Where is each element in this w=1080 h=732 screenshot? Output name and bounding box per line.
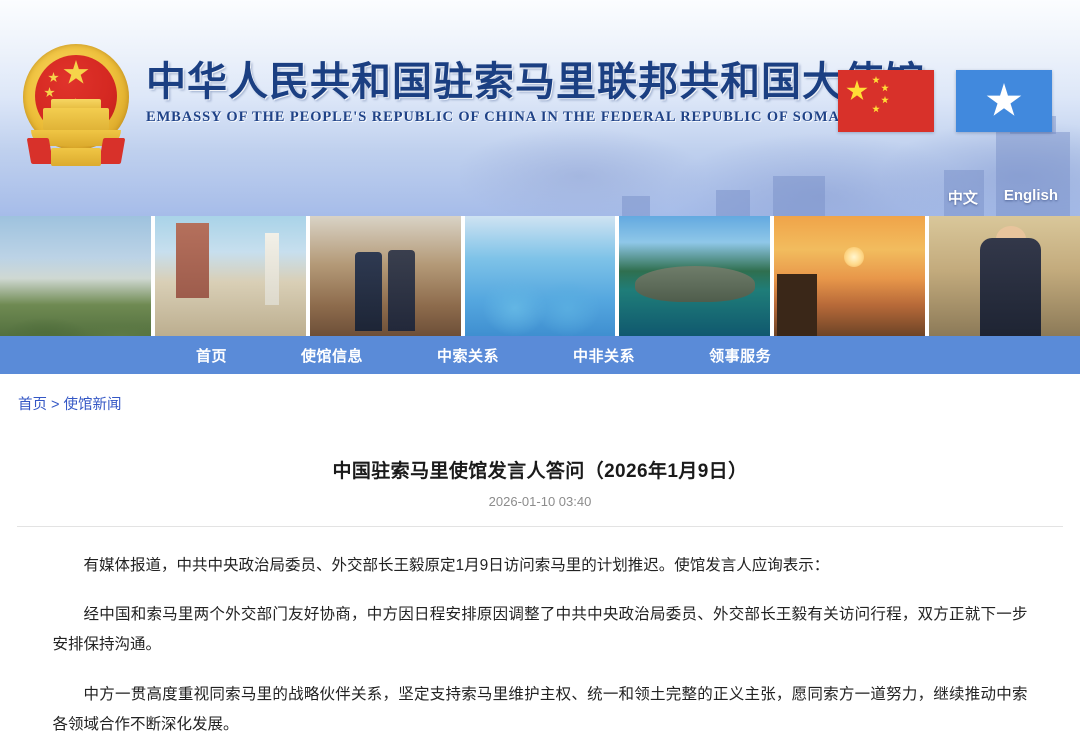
language-link-chinese[interactable]: 中文: [948, 187, 978, 208]
flag-group: [838, 70, 1052, 132]
nav-item-home[interactable]: 首页: [196, 345, 227, 366]
flag-somalia-icon: [956, 70, 1052, 132]
breadcrumb: 首页>使馆新闻: [18, 393, 1080, 414]
breadcrumb-home-link[interactable]: 首页: [18, 397, 47, 413]
nav-item-consular-services[interactable]: 领事服务: [709, 345, 771, 366]
photo-strip: [0, 216, 1080, 336]
article-divider: [17, 526, 1063, 527]
language-switcher: 中文 English: [948, 187, 1058, 208]
nav-item-embassy-info[interactable]: 使馆信息: [301, 345, 363, 366]
nav-item-china-somalia[interactable]: 中索关系: [437, 345, 499, 366]
photo-sunset-harbour-ships[interactable]: [774, 216, 925, 336]
article-title: 中国驻索马里使馆发言人答问（2026年1月9日）: [0, 456, 1080, 483]
photo-ambassador-meeting-gift[interactable]: [310, 216, 461, 336]
breadcrumb-separator: >: [51, 397, 59, 413]
emblem-ribbon: [27, 138, 125, 166]
mountain-ridge-decor: [773, 176, 825, 216]
main-navigation: 首页 使馆信息 中索关系 中非关系 领事服务: [0, 336, 1080, 374]
article-timestamp: 2026-01-10 03:40: [0, 494, 1080, 509]
photo-aerial-coastal-city[interactable]: [619, 216, 770, 336]
article-paragraph: 有媒体报道，中共中央政治局委员、外交部长王毅原定1月9日访问索马里的计划推迟。使…: [53, 551, 1028, 581]
emblem-tiananmen-gate: [43, 108, 109, 130]
mountain-ridge-decor: [716, 190, 750, 216]
breadcrumb-current-link[interactable]: 使馆新闻: [63, 397, 121, 413]
photo-mogadishu-cathedral-square[interactable]: [155, 216, 306, 336]
flag-china-icon: [838, 70, 934, 132]
national-emblem-icon: [13, 38, 139, 168]
photo-coastal-greenery[interactable]: [0, 216, 151, 336]
site-title-english: EMBASSY OF THE PEOPLE'S REPUBLIC OF CHIN…: [146, 109, 925, 126]
photo-students-with-somali-flag[interactable]: [465, 216, 616, 336]
article-body: 有媒体报道，中共中央政治局委员、外交部长王毅原定1月9日访问索马里的计划推迟。使…: [53, 551, 1028, 732]
mountain-ridge-decor: [622, 196, 650, 216]
site-header-banner: 中华人民共和国驻索马里联邦共和国大使馆 EMBASSY OF THE PEOPL…: [0, 0, 1080, 216]
article: 中国驻索马里使馆发言人答问（2026年1月9日） 2026-01-10 03:4…: [0, 456, 1080, 732]
site-title-block: 中华人民共和国驻索马里联邦共和国大使馆 EMBASSY OF THE PEOPL…: [146, 60, 925, 126]
photo-ambassador-portrait[interactable]: [929, 216, 1080, 336]
article-paragraph: 中方一贯高度重视同索马里的战略伙伴关系，坚定支持索马里维护主权、统一和领土完整的…: [53, 680, 1028, 732]
language-link-english[interactable]: English: [1004, 187, 1058, 208]
nav-item-china-africa[interactable]: 中非关系: [573, 345, 635, 366]
article-paragraph: 经中国和索马里两个外交部门友好协商，中方因日程安排原因调整了中共中央政治局委员、…: [53, 600, 1028, 660]
site-title-chinese: 中华人民共和国驻索马里联邦共和国大使馆: [146, 60, 925, 105]
